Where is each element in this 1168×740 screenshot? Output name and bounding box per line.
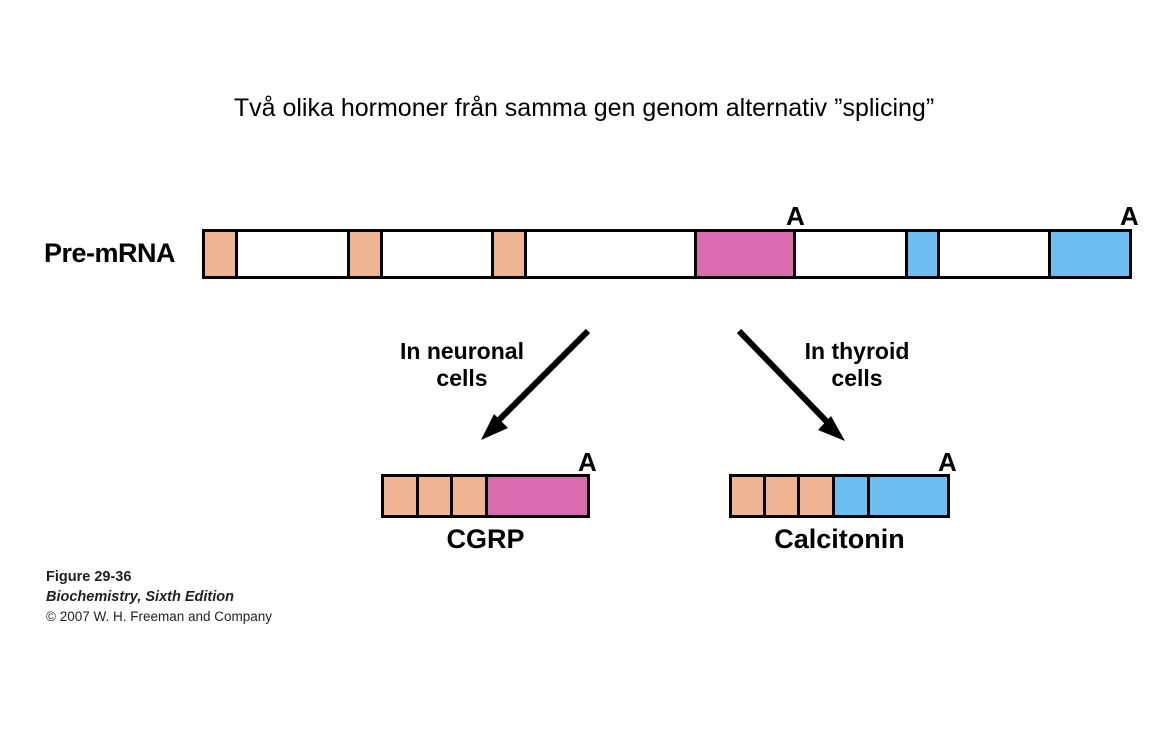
pre-mrna-segment-exon-1 — [205, 232, 238, 276]
calcitonin-segment-exon-3 — [800, 477, 834, 515]
pre-mrna-segment-exon-2 — [350, 232, 383, 276]
pre-mrna-segment-exon-4-cgrp — [697, 232, 796, 276]
pre-mrna-segment-exon-3 — [494, 232, 527, 276]
calcitonin-segment-exon-1 — [732, 477, 766, 515]
book-title: Biochemistry, Sixth Edition — [46, 588, 272, 608]
branch-label-thyroid: In thyroid cells — [782, 338, 932, 392]
copyright-notice: © 2007 W. H. Freeman and Company — [46, 607, 272, 627]
cgrp-segment-exon-1 — [384, 477, 419, 515]
pre-mrna-segment-exon-6 — [1051, 232, 1129, 276]
pre-mrna-bar — [202, 229, 1132, 279]
polyA-marker-cgrp-site: A — [786, 203, 805, 229]
branch-label-thyroid-line1: In thyroid — [782, 338, 932, 365]
calcitonin-mrna-bar — [729, 474, 950, 518]
calcitonin-segment-exon-2 — [766, 477, 800, 515]
branch-label-thyroid-line2: cells — [782, 365, 932, 392]
cgrp-product-label: CGRP — [381, 524, 590, 555]
branch-label-neuronal-line1: In neuronal — [378, 338, 546, 365]
pre-mrna-segment-intron-1 — [238, 232, 350, 276]
credit-block: Figure 29-36 Biochemistry, Sixth Edition… — [46, 568, 272, 627]
pre-mrna-segment-intron-4 — [796, 232, 908, 276]
calcitonin-segment-exon-5 — [870, 477, 947, 515]
cgrp-segment-exon-3 — [453, 477, 488, 515]
figure-number: Figure 29-36 — [46, 568, 272, 588]
cgrp-segment-exon-4 — [488, 477, 587, 515]
cgrp-segment-exon-2 — [419, 477, 454, 515]
figure-title: Två olika hormoner från samma gen genom … — [0, 94, 1168, 123]
polyA-marker-calcitonin: A — [938, 449, 957, 475]
cgrp-mrna-bar — [381, 474, 590, 518]
branch-label-neuronal-line2: cells — [378, 365, 546, 392]
calcitonin-segment-exon-4 — [835, 477, 870, 515]
pre-mrna-label: Pre-mRNA — [44, 238, 175, 269]
pre-mrna-segment-intron-3 — [527, 232, 697, 276]
calcitonin-product-label: Calcitonin — [709, 524, 970, 555]
branch-label-neuronal: In neuronal cells — [378, 338, 546, 392]
polyA-marker-cgrp: A — [578, 449, 597, 475]
pre-mrna-segment-exon-5-calcitonin — [908, 232, 940, 276]
polyA-marker-calcitonin-site: A — [1120, 203, 1139, 229]
pre-mrna-segment-intron-5 — [940, 232, 1052, 276]
pre-mrna-segment-intron-2 — [383, 232, 495, 276]
